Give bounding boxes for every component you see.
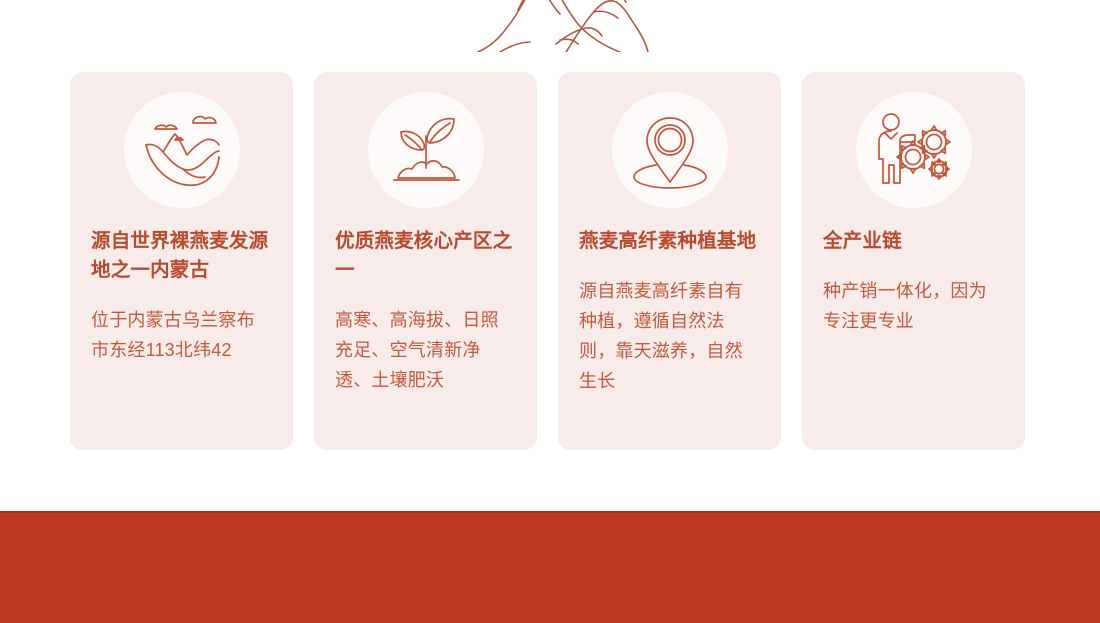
sprout-seedling-icon — [386, 110, 466, 190]
card-title: 全产业链 — [823, 227, 1004, 256]
card-title: 源自世界裸燕麦发源地之一内蒙古 — [91, 227, 272, 285]
card-description: 源自燕麦高纤素自有种植，遵循自然法则，靠天滋养，自然生长 — [579, 276, 760, 396]
card-description: 种产销一体化，因为专注更专业 — [823, 276, 1004, 336]
icon-badge — [856, 92, 972, 208]
worker-gears-icon — [871, 111, 957, 189]
icon-badge — [612, 92, 728, 208]
mountain-landscape-icon — [139, 107, 225, 193]
card-description: 高寒、高海拔、日照充足、空气清新净透、土壤肥沃 — [335, 305, 516, 395]
feature-card-core-region[interactable]: 优质燕麦核心产区之一 高寒、高海拔、日照充足、空气清新净透、土壤肥沃 — [314, 72, 537, 450]
icon-badge — [368, 92, 484, 208]
band-top-divider — [0, 511, 1100, 513]
hero-decoration — [0, 0, 1100, 52]
icon-badge — [124, 92, 240, 208]
footer-red-band — [0, 511, 1100, 623]
feature-card-origin[interactable]: 源自世界裸燕麦发源地之一内蒙古 位于内蒙古乌兰察布市东经113北纬42 — [70, 72, 293, 450]
feature-cards-row: 源自世界裸燕麦发源地之一内蒙古 位于内蒙古乌兰察布市东经113北纬42 优质燕麦… — [70, 72, 1026, 450]
map-pin-location-icon — [628, 110, 712, 190]
card-description: 位于内蒙古乌兰察布市东经113北纬42 — [91, 305, 272, 365]
card-title: 燕麦高纤素种植基地 — [579, 227, 760, 256]
feature-card-plant-base[interactable]: 燕麦高纤素种植基地 源自燕麦高纤素自有种植，遵循自然法则，靠天滋养，自然生长 — [558, 72, 781, 450]
mountain-line-art-icon — [470, 0, 650, 52]
card-title: 优质燕麦核心产区之一 — [335, 227, 516, 285]
feature-card-full-chain[interactable]: 全产业链 种产销一体化，因为专注更专业 — [802, 72, 1025, 450]
